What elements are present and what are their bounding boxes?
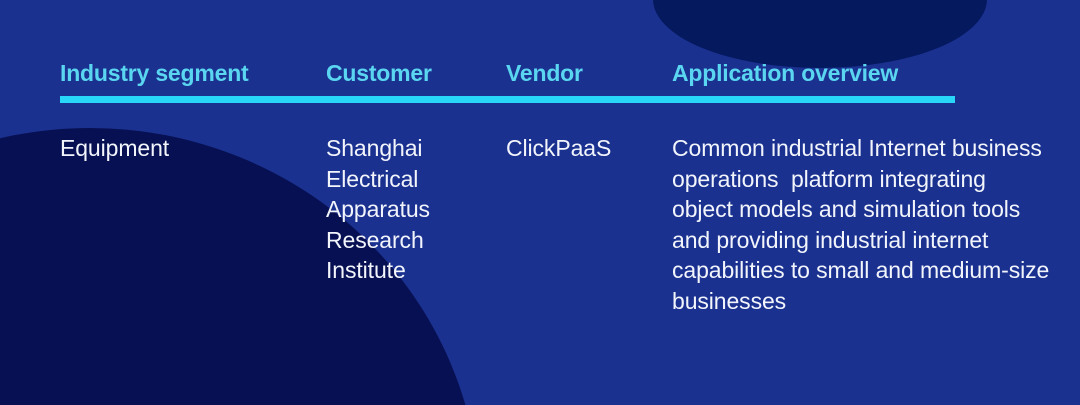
column-header-industry-segment: Industry segment	[60, 58, 249, 88]
slide-canvas: Industry segment Customer Vendor Applica…	[0, 0, 1080, 405]
cell-customer: Shanghai Electrical Apparatus Research I…	[326, 133, 496, 286]
header-underline-rule	[60, 96, 955, 103]
column-header-application-overview: Application overview	[672, 58, 898, 88]
cell-application-overview: Common industrial Internet business oper…	[672, 133, 1052, 316]
column-header-vendor: Vendor	[506, 58, 583, 88]
industry-segment-table: Industry segment Customer Vendor Applica…	[0, 0, 1080, 405]
cell-industry-segment: Equipment	[60, 133, 310, 164]
table-header-row: Industry segment Customer Vendor Applica…	[60, 58, 955, 92]
column-header-customer: Customer	[326, 58, 432, 88]
cell-vendor: ClickPaaS	[506, 133, 666, 164]
